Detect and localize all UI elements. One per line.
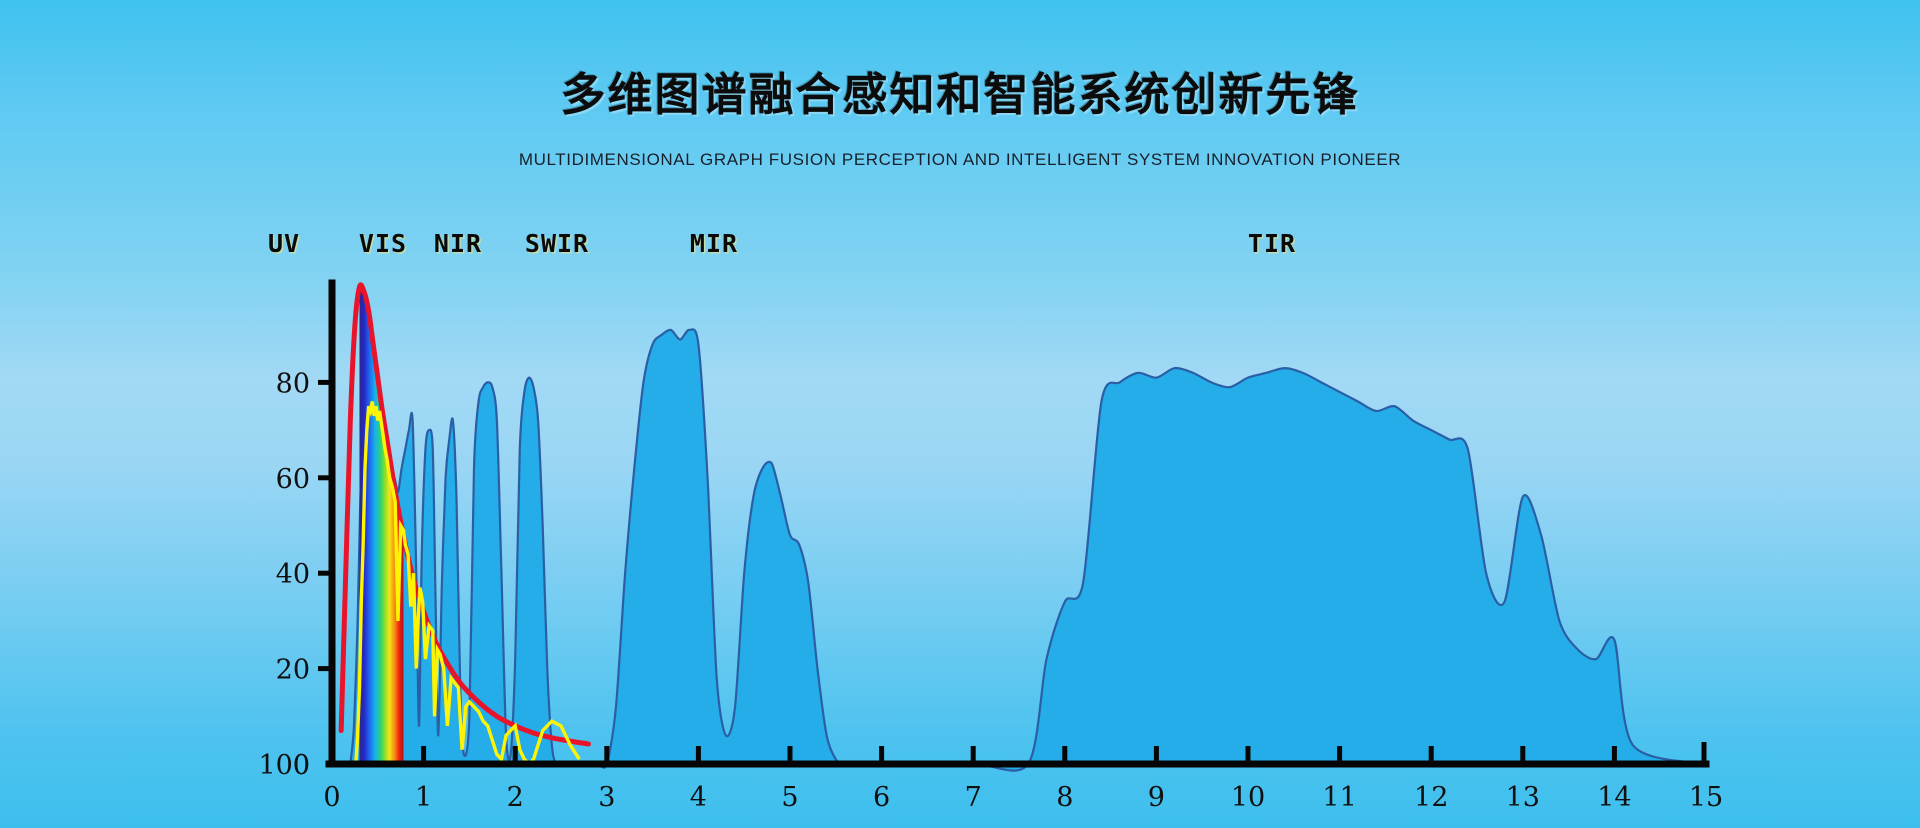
x-tick-label: 6	[873, 782, 890, 813]
x-tick-label: 4	[690, 782, 707, 813]
y-axis-labels: 020406080100	[258, 368, 310, 781]
transmission-area	[350, 329, 1706, 770]
x-tick-label: 9	[1148, 782, 1165, 813]
x-axis-labels: 0123456789101112131415	[323, 782, 1723, 813]
x-tick-label: 5	[781, 782, 798, 813]
x-tick-label: 7	[965, 782, 982, 813]
y-tick-label: 60	[276, 464, 310, 495]
x-tick-label: 3	[598, 782, 615, 813]
x-tick-label: 0	[323, 782, 340, 813]
x-tick-label: 2	[507, 782, 524, 813]
y-tick-label: 80	[276, 368, 310, 399]
spectrum-chart: 020406080100 0123456789101112131415	[0, 0, 1920, 828]
x-tick-label: 10	[1231, 782, 1265, 813]
x-tick-label: 12	[1414, 782, 1448, 813]
y-tick-label: 100	[258, 750, 310, 781]
x-tick-label: 13	[1506, 782, 1540, 813]
x-tick-label: 11	[1322, 782, 1356, 813]
y-tick-label: 20	[276, 655, 310, 686]
x-tick-label: 15	[1689, 782, 1723, 813]
x-tick-label: 8	[1056, 782, 1073, 813]
x-tick-label: 14	[1597, 782, 1631, 813]
plot-layer	[341, 285, 1706, 771]
x-tick-label: 1	[415, 782, 432, 813]
poster-root: 多维图谱融合感知和智能系统创新先锋 MULTIDIMENSIONAL GRAPH…	[0, 0, 1920, 828]
y-tick-label: 40	[276, 559, 310, 590]
